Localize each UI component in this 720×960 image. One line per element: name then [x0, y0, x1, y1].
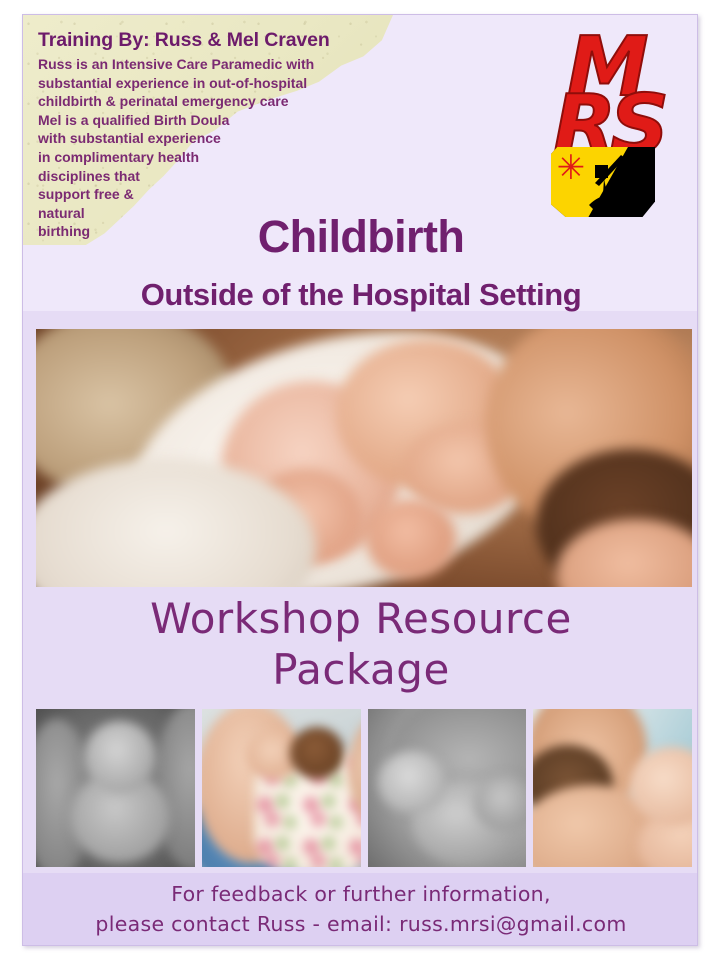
mrs-logo: M RS ✳ — [551, 27, 661, 217]
photo-baby-head — [84, 721, 156, 793]
trainer-line: disciplines that — [38, 167, 378, 186]
newborn-held-bw-photo — [36, 709, 195, 867]
hero-newborn-photo — [36, 329, 692, 587]
crying-newborn-bw-photo — [368, 709, 527, 867]
photo-strip — [36, 709, 692, 867]
trainer-line: with substantial experience — [38, 129, 378, 148]
footer-line-1: For feedback or further information, — [23, 873, 698, 909]
workshop-heading-line-2: Package — [23, 644, 698, 695]
rescue-winch-figure-icon — [581, 153, 639, 215]
trainer-heading: Training By: Russ & Mel Craven — [38, 29, 378, 52]
trainer-line: in complimentary health — [38, 148, 378, 167]
footer-line-2: please contact Russ - email: russ.mrsi@g… — [23, 909, 698, 939]
photo-baby-head — [378, 751, 446, 813]
poster-page: Training By: Russ & Mel Craven Russ is a… — [22, 14, 698, 946]
workshop-heading: Workshop Resource Package — [23, 593, 698, 695]
trainer-info-block: Training By: Russ & Mel Craven Russ is a… — [38, 29, 378, 241]
trainer-line: childbirth & perinatal emergency care — [38, 92, 378, 111]
footer-contact-block: For feedback or further information, ple… — [23, 873, 698, 946]
header-band: Training By: Russ & Mel Craven Russ is a… — [23, 15, 698, 311]
father-skin-to-skin-with-baby-photo — [533, 709, 692, 867]
trainer-line: substantial experience in out-of-hospita… — [38, 74, 378, 93]
trainer-line: Mel is a qualified Birth Doula — [38, 111, 378, 130]
hero-baby-foot — [366, 499, 456, 579]
photo-baby-head — [290, 727, 344, 779]
mother-holding-baby-floral-blanket-photo — [202, 709, 361, 867]
page-title: Childbirth — [23, 211, 698, 263]
trainer-line: Russ is an Intensive Care Paramedic with — [38, 55, 378, 74]
trainer-line: support free & — [38, 185, 378, 204]
page-subtitle: Outside of the Hospital Setting — [23, 277, 698, 313]
workshop-heading-line-1: Workshop Resource — [23, 593, 698, 644]
